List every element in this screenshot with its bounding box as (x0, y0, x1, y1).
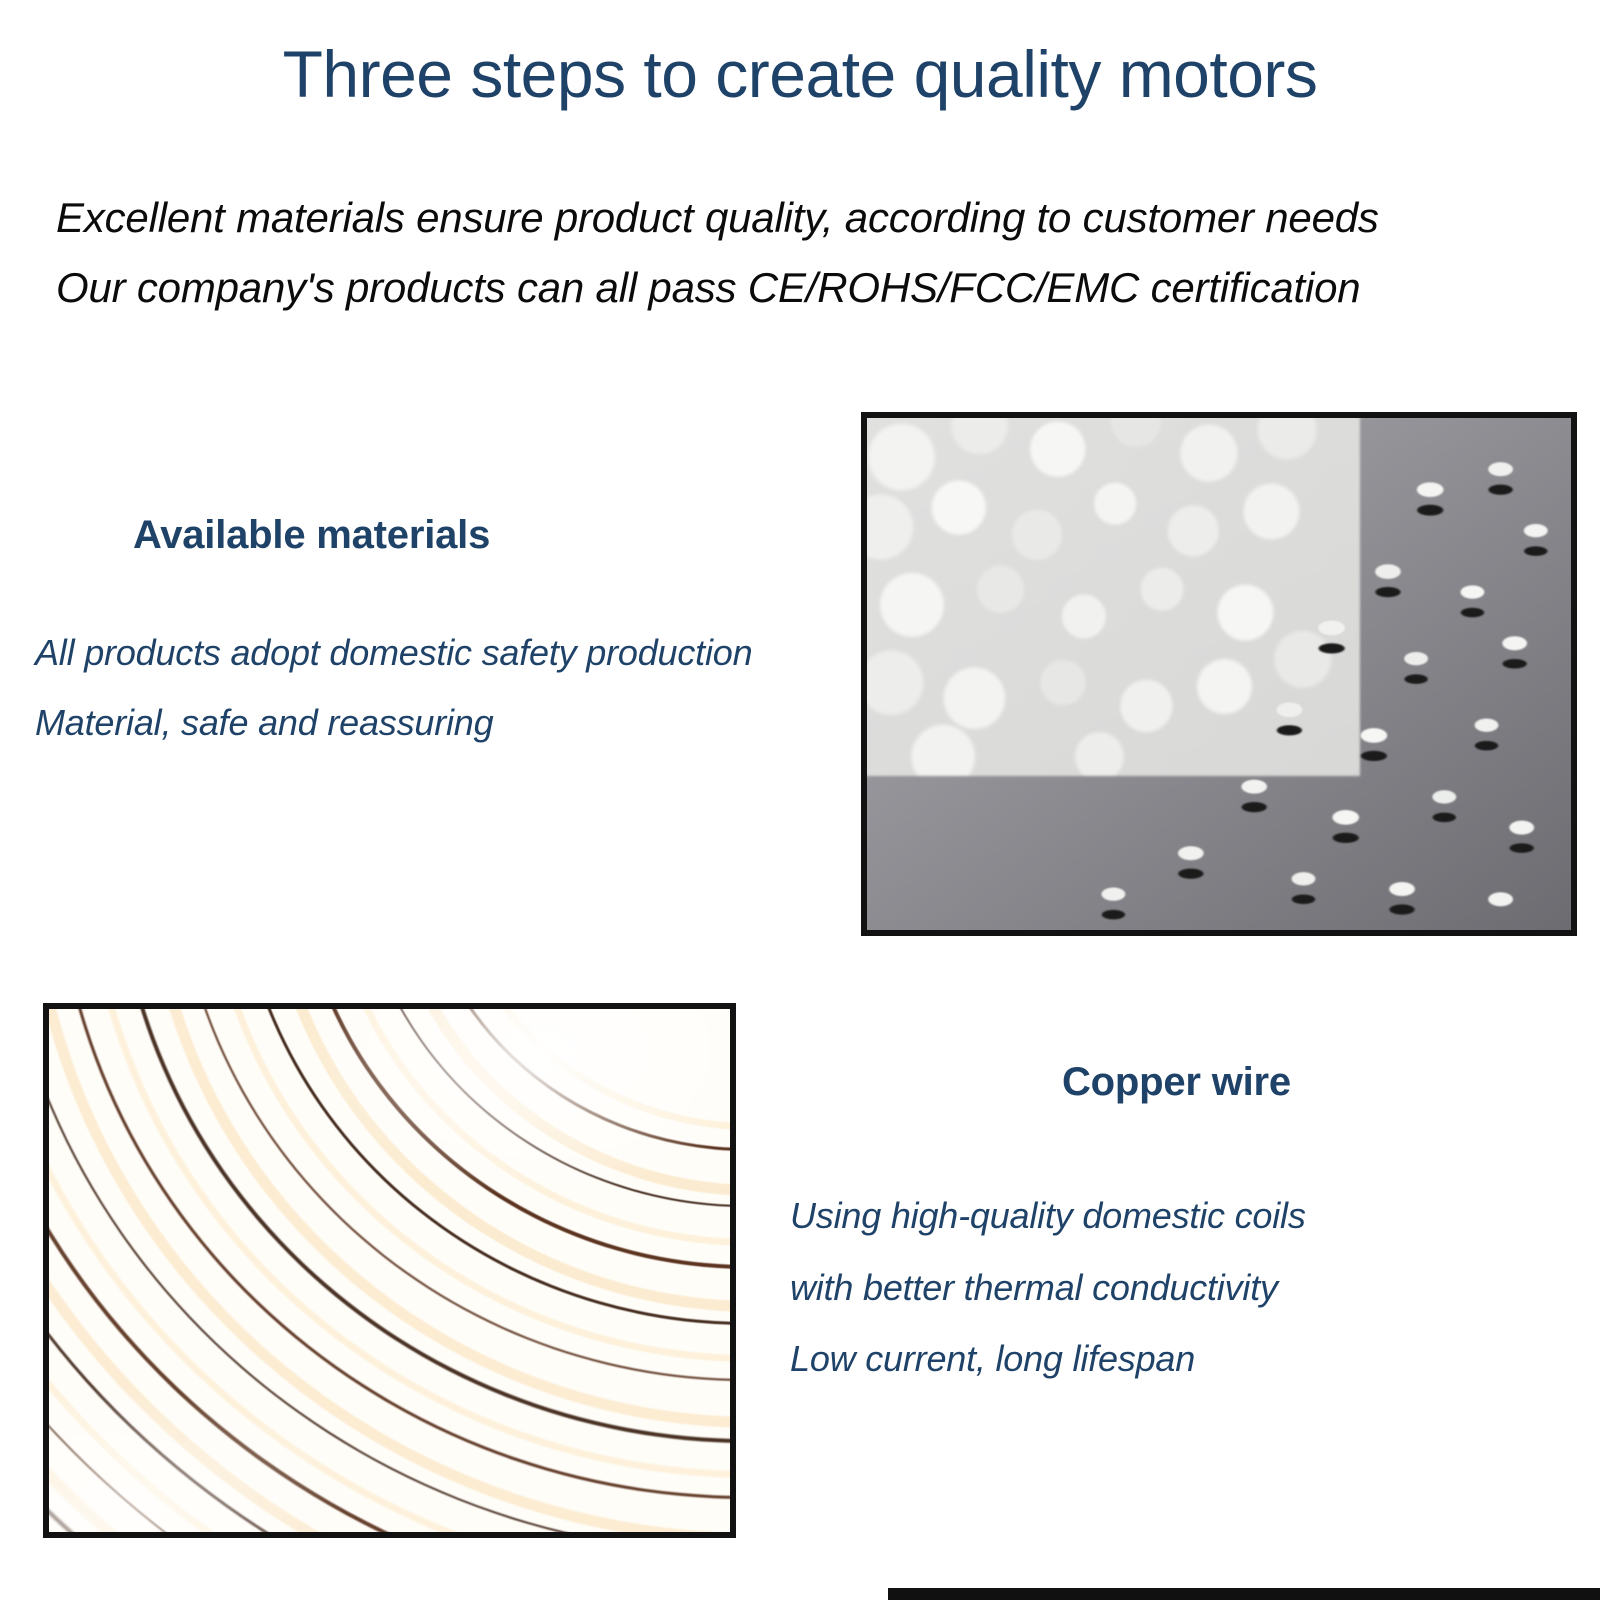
available-materials-line-2: Material, safe and reassuring (35, 702, 493, 744)
subtitle-line-1: Excellent materials ensure product quali… (56, 194, 1379, 242)
page-title: Three steps to create quality motors (0, 36, 1600, 112)
copper-wire-line-1: Using high-quality domestic coils (790, 1195, 1306, 1237)
copper-wire-line-3: Low current, long lifespan (790, 1338, 1195, 1380)
section-heading-available-materials: Available materials (133, 513, 490, 558)
section-heading-copper-wire: Copper wire (1062, 1060, 1291, 1105)
bottom-photo-top-edge (888, 1588, 1600, 1600)
slide-canvas: Three steps to create quality motors Exc… (0, 0, 1600, 1600)
copper-wire-photo (43, 1003, 736, 1538)
plastic-pellets-photo (861, 412, 1577, 936)
available-materials-line-1: All products adopt domestic safety produ… (35, 632, 752, 674)
subtitle-line-2: Our company's products can all pass CE/R… (56, 264, 1360, 312)
copper-wire-line-2: with better thermal conductivity (790, 1267, 1278, 1309)
pellets-scattered-granules (867, 418, 1571, 930)
copper-wire-strand (49, 1009, 730, 1532)
copper-coil-stack (49, 1009, 730, 1532)
